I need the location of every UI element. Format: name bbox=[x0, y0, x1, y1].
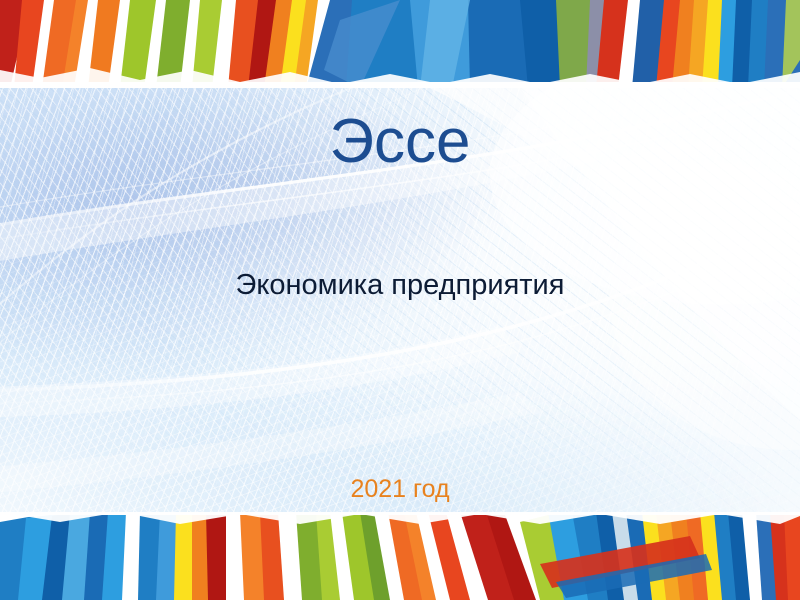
slide-subtitle: Экономика предприятия bbox=[0, 268, 800, 303]
title-placeholder[interactable]: Эссе bbox=[0, 108, 800, 176]
slide-title: Эссе bbox=[0, 108, 800, 176]
presentation-slide: Эссе Экономика предприятия 2021 год bbox=[0, 0, 800, 600]
year-placeholder[interactable]: 2021 год bbox=[0, 474, 800, 504]
slide-year: 2021 год bbox=[0, 474, 800, 504]
subtitle-placeholder[interactable]: Экономика предприятия bbox=[0, 268, 800, 303]
decorative-shard-band-bottom bbox=[0, 512, 800, 600]
decorative-shard-band-top bbox=[0, 0, 800, 88]
